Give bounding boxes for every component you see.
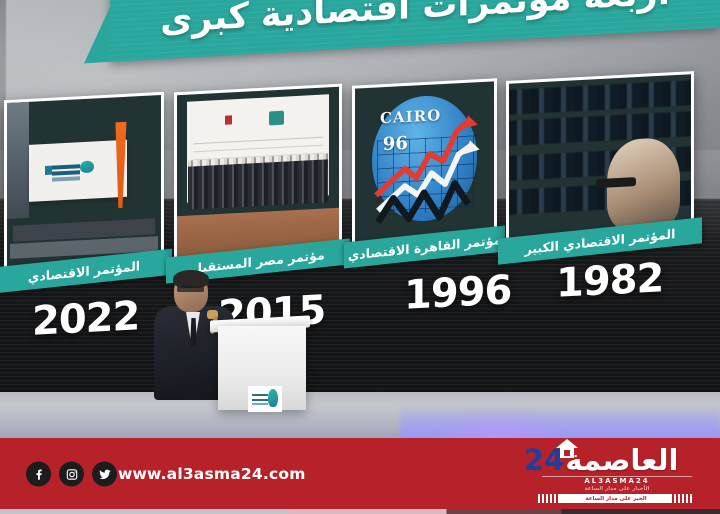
underlying-image-strip: [0, 509, 720, 514]
conference-photo-2015: [177, 87, 339, 259]
brand-strip: الخبر على مدار الساعة: [538, 494, 694, 503]
photo-logo-leaf: [80, 160, 94, 173]
photo-audience-row: [509, 80, 691, 114]
conference-year-2022: 2022: [32, 293, 139, 345]
site-url[interactable]: www.al3asma24.com: [118, 465, 306, 483]
facebook-icon[interactable]: [26, 462, 51, 487]
photo-group-photo: [188, 160, 327, 210]
cairo96-logo-number: 96: [383, 133, 408, 155]
photo-logo-bar: [45, 165, 52, 174]
conference-year-1996: 1996: [404, 267, 511, 319]
podium-logo-leaf: [268, 389, 278, 407]
brand-strip-text: الخبر على مدار الساعة: [560, 494, 672, 503]
brand-logo: العاصمة 24 AL3ASMA24 الأخبار على مدار ال…: [524, 443, 696, 505]
footer-bar: www.al3asma24.com العاصمة 24 AL3ASMA24 ا…: [0, 438, 720, 510]
twitter-icon[interactable]: [92, 462, 117, 487]
conference-year-1982: 1982: [556, 255, 663, 307]
instagram-icon[interactable]: [59, 462, 84, 487]
brand-name-latin: AL3ASMA24: [542, 476, 692, 485]
conference-photo-1996: CAIRO 96: [355, 81, 494, 244]
brand-tagline: الأخبار على مدار الساعة: [542, 486, 692, 492]
podium-logo-text: [252, 394, 268, 396]
cairo96-logo-title: CAIRO: [380, 106, 441, 127]
brand-name-arabic: العاصمة: [565, 446, 678, 475]
photo-secondary-emblem: [225, 115, 232, 125]
conference-card-1996: CAIRO 96 مؤتمر القاهرة الاقتصادي: [352, 78, 497, 248]
conference-card-2022: المؤتمر الاقتصادي: [4, 92, 164, 272]
speaker-glasses: [177, 286, 204, 292]
brand-number: 24: [524, 446, 564, 475]
conference-photo-1982: [509, 74, 691, 240]
conference-card-2015: مؤتمر مصر المستقبل: [174, 84, 342, 263]
stage-floor-glow-secondary: [430, 412, 570, 440]
photo-event-emblem: [269, 110, 283, 125]
conference-photo-2022: [7, 95, 161, 269]
photo-backdrop-wall: [29, 140, 128, 202]
news-graphic: أربعة مؤتمرات اقتصادية كبرى المؤتمر الاق…: [0, 0, 720, 514]
photo-audience-row: [509, 112, 691, 146]
social-links: [26, 462, 117, 487]
podium-logo: [248, 386, 282, 412]
brand-wordmark: العاصمة 24: [524, 445, 696, 475]
photo-logo-text: [52, 164, 80, 169]
conference-card-1982: المؤتمر الاقتصادي الكبير: [506, 71, 694, 243]
photo-glass-panel: [7, 102, 29, 219]
